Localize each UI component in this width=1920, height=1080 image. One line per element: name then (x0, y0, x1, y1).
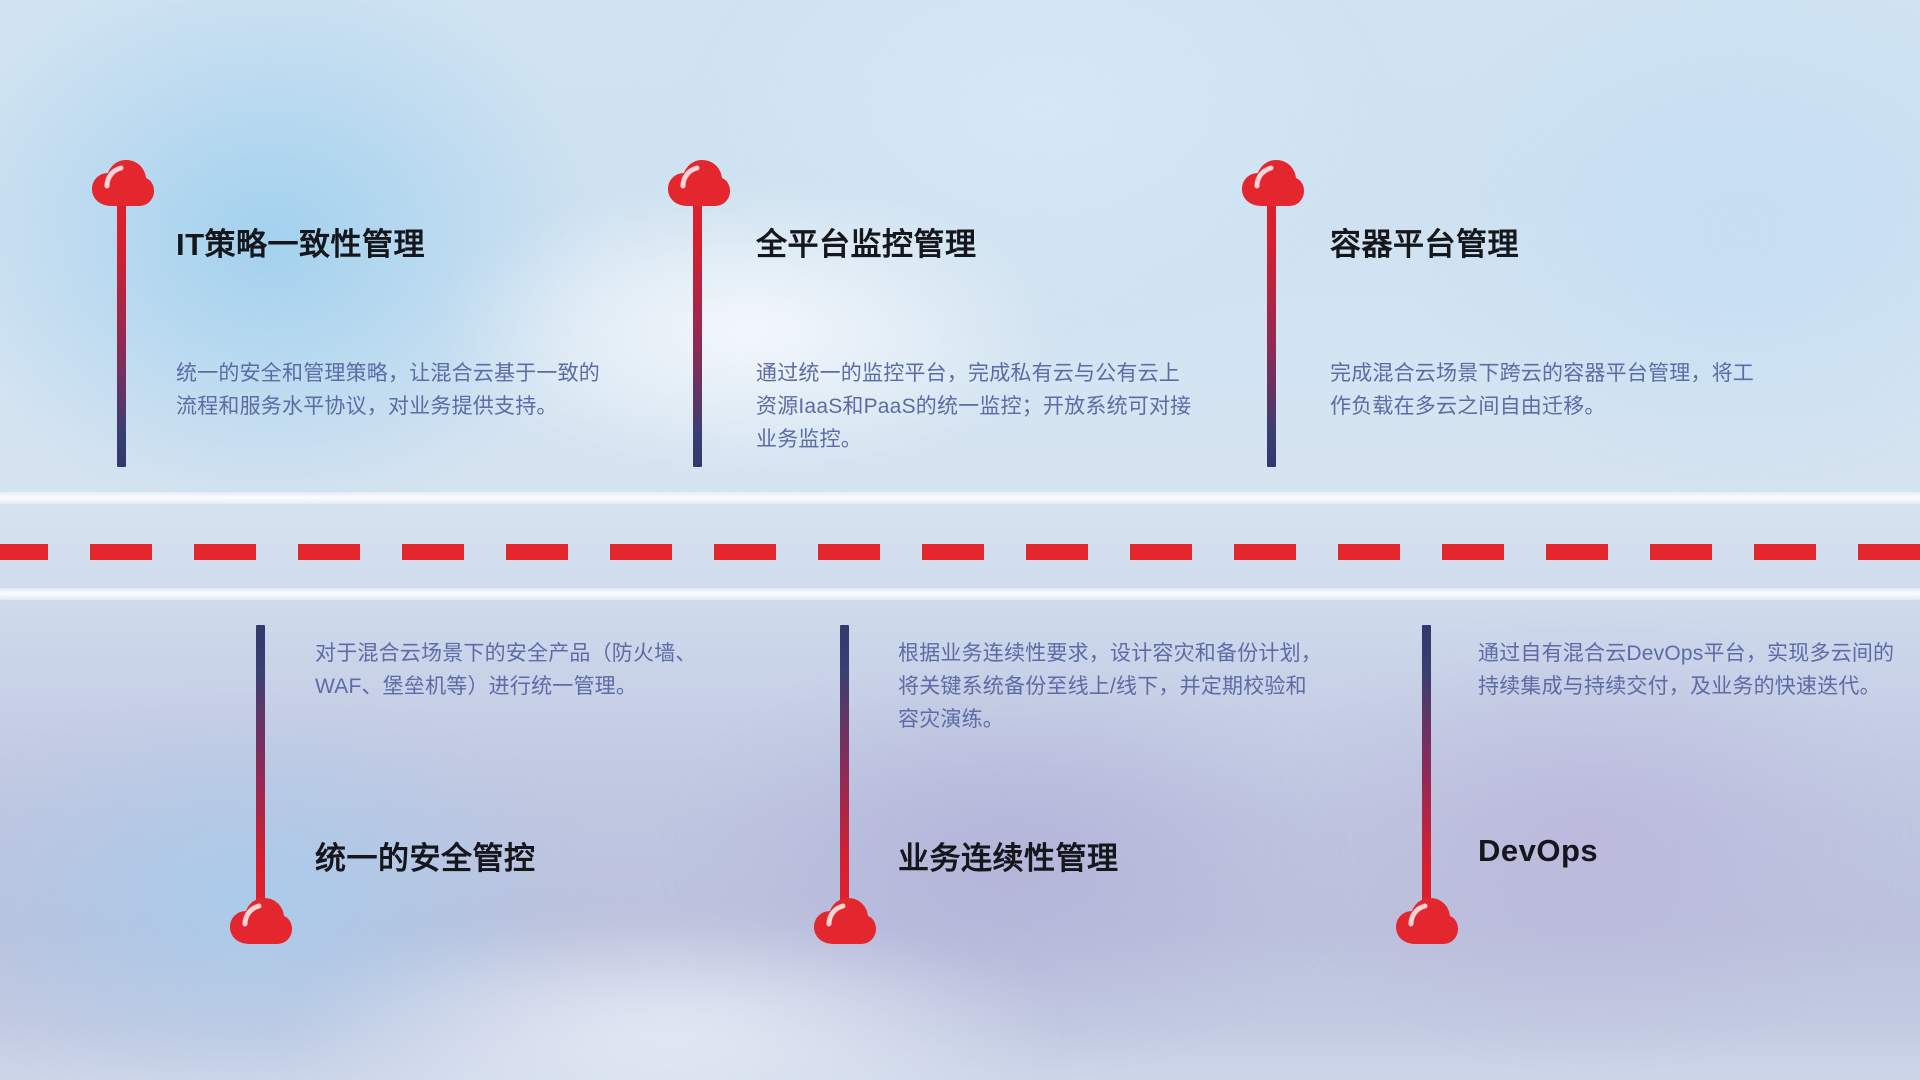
bottom-card-3-body: 通过自有混合云DevOps平台，实现多云间的持续集成与持续交付，及业务的快速迭代… (1478, 637, 1898, 703)
bottom-card-3-title: DevOps (1478, 833, 1598, 869)
bottom-card-2-body-text: 根据业务连续性要求，设计容灾和备份计划，将关键系统备份至线上/线下，并定期校验和… (898, 637, 1323, 736)
marker-stem-top-3 (1267, 182, 1276, 467)
bottom-card-2-body: 根据业务连续性要求，设计容灾和备份计划，将关键系统备份至线上/线下，并定期校验和… (898, 637, 1323, 736)
cloud-icon (1396, 898, 1458, 944)
marker-stem-top-2 (693, 182, 702, 467)
cloud-icon (92, 160, 154, 206)
marker-stem-bottom-3 (1422, 625, 1431, 910)
top-card-1-body: 统一的安全和管理策略，让混合云基于一致的流程和服务水平协议，对业务提供支持。 (176, 357, 606, 423)
road-rail-bottom (0, 588, 1920, 600)
road-rail-top (0, 492, 1920, 504)
bottom-card-1-title: 统一的安全管控 (315, 833, 536, 878)
bottom-card-3-body-text: 通过自有混合云DevOps平台，实现多云间的持续集成与持续交付，及业务的快速迭代… (1478, 637, 1898, 703)
marker-stem-bottom-1 (256, 625, 265, 910)
bottom-card-1-body: 对于混合云场景下的安全产品（防火墙、WAF、堡垒机等）进行统一管理。 (315, 637, 735, 703)
cloud-icon (230, 898, 292, 944)
top-card-2-body-text: 通过统一的监控平台，完成私有云与公有云上资源IaaS和PaaS的统一监控；开放系… (756, 357, 1196, 456)
road-dashed-centerline (0, 544, 1920, 560)
top-card-3-body: 完成混合云场景下跨云的容器平台管理，将工作负载在多云之间自由迁移。 (1330, 357, 1760, 423)
cloud-icon (814, 898, 876, 944)
marker-stem-top-1 (117, 182, 126, 467)
cloud-icon (1242, 160, 1304, 206)
top-card-2-title: 全平台监控管理 (756, 219, 977, 264)
top-card-1-body-text: 统一的安全和管理策略，让混合云基于一致的流程和服务水平协议，对业务提供支持。 (176, 357, 606, 423)
infographic-canvas: IT策略一致性管理 统一的安全和管理策略，让混合云基于一致的流程和服务水平协议，… (0, 0, 1920, 1080)
marker-stem-bottom-2 (840, 625, 849, 910)
top-card-3-title: 容器平台管理 (1330, 219, 1519, 264)
top-card-3-body-text: 完成混合云场景下跨云的容器平台管理，将工作负载在多云之间自由迁移。 (1330, 357, 1760, 423)
cloud-icon (668, 160, 730, 206)
top-card-1-title: IT策略一致性管理 (176, 219, 425, 264)
bottom-card-1-body-text: 对于混合云场景下的安全产品（防火墙、WAF、堡垒机等）进行统一管理。 (315, 637, 735, 703)
top-card-2-body: 通过统一的监控平台，完成私有云与公有云上资源IaaS和PaaS的统一监控；开放系… (756, 357, 1196, 456)
bottom-card-2-title: 业务连续性管理 (898, 833, 1119, 878)
background-glow-white-center (300, 120, 1200, 540)
